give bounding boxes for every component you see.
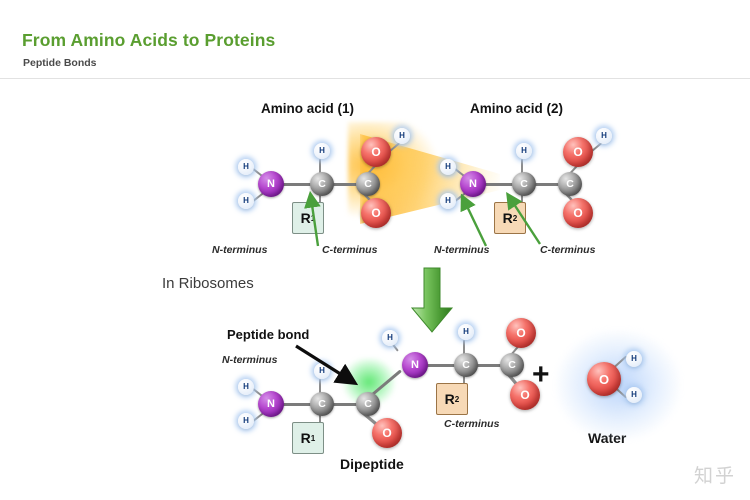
label-c-terminus-aa2: C-terminus [540, 244, 595, 256]
diagram-canvas: From Amino Acids to Proteins Peptide Bon… [0, 0, 750, 500]
atom-carbon-carbonyl-dipeptide: C [356, 392, 380, 416]
atom-hydrogen-c-alpha-aa2: H [516, 143, 532, 159]
atom-nitrogen-dipeptide-n-terminus: N [258, 391, 284, 417]
atom-hydrogen-c-alpha-dipeptide-right: H [458, 324, 474, 340]
atom-carbon-carboxyl-dipeptide: C [500, 353, 524, 377]
label-peptide-bond: Peptide bond [227, 327, 309, 342]
pointer-arrow-c-terminus-aa2 [496, 188, 548, 250]
atom-oxygen-upper-dipeptide: O [506, 318, 536, 348]
page-title: From Amino Acids to Proteins [22, 30, 275, 51]
atom-oxygen-carbonyl-dipeptide: O [372, 418, 402, 448]
watermark: 知乎 [694, 461, 736, 488]
atom-hydrogen-n-upper-aa2: H [440, 159, 456, 175]
reaction-direction-arrow-down [409, 268, 455, 334]
side-chain-r1-subscript-dipeptide: 1 [311, 434, 316, 443]
atom-carbon-alpha-dipeptide-right: C [454, 353, 478, 377]
atom-nitrogen-aa1: N [258, 171, 284, 197]
pointer-arrow-n-terminus-aa2 [452, 190, 498, 250]
side-chain-r2-box-dipeptide: R2 [436, 383, 468, 415]
atom-hydrogen-lower-water: H [626, 387, 642, 403]
peptide-bond-callout-arrow [294, 344, 362, 388]
bond-n-c-alpha-dipeptide [281, 403, 311, 406]
bond-c-alpha-c-carboxyl-aa1 [331, 183, 357, 186]
atom-carbon-alpha-dipeptide-left: C [310, 392, 334, 416]
page-subtitle: Peptide Bonds [23, 57, 97, 69]
atom-hydrogen-n-lower-aa1: H [238, 193, 254, 209]
label-n-terminus-aa1: N-terminus [212, 244, 267, 256]
bond-n-c-alpha-aa1 [281, 183, 311, 186]
atom-hydrogen-n-upper-aa1: H [238, 159, 254, 175]
atom-oxygen-carbonyl-aa1: O [361, 198, 391, 228]
atom-hydrogen-upper-water: H [626, 351, 642, 367]
side-chain-r1-box-dipeptide: R1 [292, 422, 324, 454]
atom-hydrogen-n-peptide: H [382, 330, 398, 346]
atom-oxygen-hydroxyl-aa2: O [563, 137, 593, 167]
label-n-terminus-dipeptide: N-terminus [222, 354, 277, 366]
heading-amino-acid-1: Amino acid (1) [261, 101, 354, 116]
atom-hydrogen-n-lower-dipeptide: H [238, 413, 254, 429]
atom-hydrogen-c-alpha-aa1: H [314, 143, 330, 159]
plus-sign: + [532, 360, 550, 390]
side-chain-r2-label-dipeptide: R [445, 391, 455, 407]
side-chain-r1-label-dipeptide: R [301, 430, 311, 446]
atom-oxygen-water: O [587, 362, 621, 396]
heading-amino-acid-2: Amino acid (2) [470, 101, 563, 116]
atom-carbon-carboxyl-aa1: C [356, 172, 380, 196]
side-chain-r2-subscript-dipeptide: 2 [455, 395, 460, 404]
bond-c-alpha-c-carboxyl-dipeptide [475, 364, 501, 367]
condensation-glow-core [348, 122, 438, 218]
bond-c-alpha-c-carboxyl-aa2 [533, 183, 559, 186]
atom-hydrogen-hydroxyl-aa1: H [394, 128, 410, 144]
pointer-arrow-c-terminus-aa1 [300, 190, 340, 250]
bond-n-c-alpha-dipeptide-right [425, 364, 455, 367]
label-dipeptide: Dipeptide [340, 456, 404, 472]
label-in-ribosomes: In Ribosomes [162, 275, 254, 292]
label-c-terminus-dipeptide: C-terminus [444, 418, 499, 430]
atom-oxygen-carbonyl-aa2: O [563, 198, 593, 228]
atom-hydrogen-hydroxyl-aa2: H [596, 128, 612, 144]
atom-carbon-carboxyl-aa2: C [558, 172, 582, 196]
atom-nitrogen-peptide-bond: N [402, 352, 428, 378]
bond-n-c-alpha-aa2 [483, 183, 513, 186]
atom-hydrogen-n-upper-dipeptide: H [238, 379, 254, 395]
atom-oxygen-hydroxyl-aa1: O [361, 137, 391, 167]
bond-c-alpha-c-carbonyl-dipeptide [331, 403, 357, 406]
header-divider [0, 78, 750, 79]
